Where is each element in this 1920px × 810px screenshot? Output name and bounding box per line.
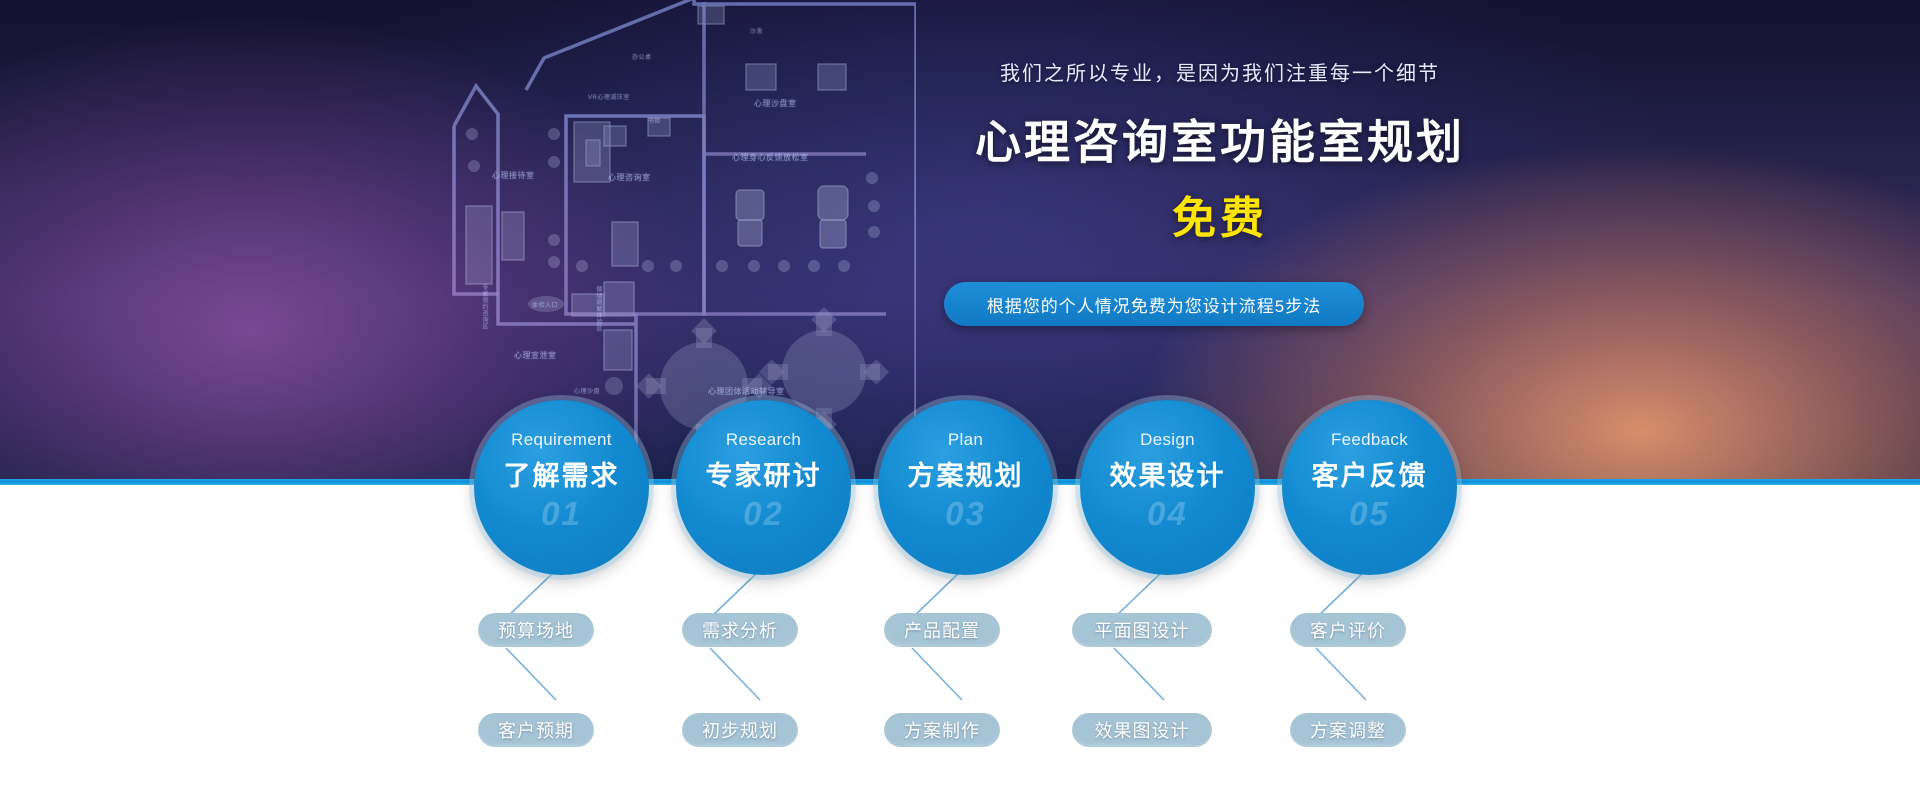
tag-pill[interactable]: 效果图设计 [1072,713,1212,747]
process-steps: Requirement 了解需求 01 Research 专家研讨 02 Pla… [0,0,1920,810]
tag-pill[interactable]: 方案调整 [1290,713,1406,747]
step-cn-label: 方案规划 [908,454,1024,493]
step-en-label: Design [1140,430,1195,450]
step-en-label: Feedback [1331,430,1408,450]
step-en-label: Plan [948,430,983,450]
tag-pill[interactable]: 方案制作 [884,713,1000,747]
step-number: 03 [945,495,986,533]
step-circle-3[interactable]: Plan 方案规划 03 [878,400,1053,575]
tag-pill[interactable]: 客户评价 [1290,613,1406,647]
tag-pill[interactable]: 初步规划 [682,713,798,747]
step-number: 01 [541,495,582,533]
tag-pill[interactable]: 预算场地 [478,613,594,647]
step-circle-5[interactable]: Feedback 客户反馈 05 [1282,400,1457,575]
step-number: 05 [1349,495,1390,533]
step-circle-2[interactable]: Research 专家研讨 02 [676,400,851,575]
tag-pill[interactable]: 产品配置 [884,613,1000,647]
step-cn-label: 客户反馈 [1312,454,1428,493]
step-en-label: Research [726,430,801,450]
step-cn-label: 了解需求 [504,454,620,493]
banner-stage: 心理沙盘室 心理身心反馈放松室 心理接待室 心理咨询室 心理宣泄室 心理团体活动… [0,0,1920,810]
tag-pill[interactable]: 需求分析 [682,613,798,647]
tag-pill[interactable]: 客户预期 [478,713,594,747]
step-cn-label: 专家研讨 [706,454,822,493]
step-number: 04 [1147,495,1188,533]
step-cn-label: 效果设计 [1110,454,1226,493]
step-circle-1[interactable]: Requirement 了解需求 01 [474,400,649,575]
step-en-label: Requirement [511,430,612,450]
tag-pill[interactable]: 平面图设计 [1072,613,1212,647]
step-number: 02 [743,495,784,533]
step-circle-4[interactable]: Design 效果设计 04 [1080,400,1255,575]
